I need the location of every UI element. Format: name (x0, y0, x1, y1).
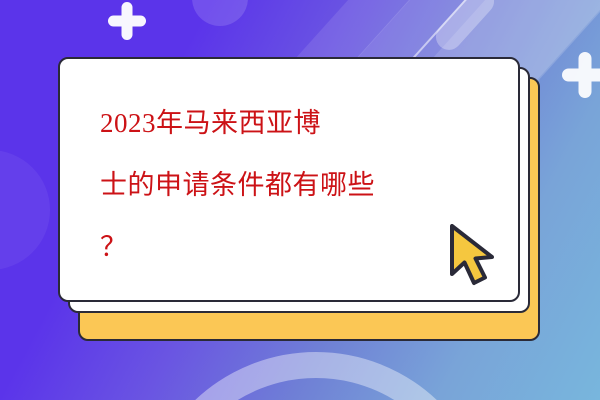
cursor-pointer (448, 224, 504, 288)
headline-line: 2023年马来西亚博 (100, 92, 500, 154)
headline-line: ？ (100, 216, 500, 278)
headline-text-block: 2023年马来西亚博 士的申请条件都有哪些 ？ (100, 92, 500, 278)
poster-canvas: 2023年马来西亚博 士的申请条件都有哪些 ？ (0, 0, 600, 400)
headline-line: 士的申请条件都有哪些 (100, 154, 500, 216)
